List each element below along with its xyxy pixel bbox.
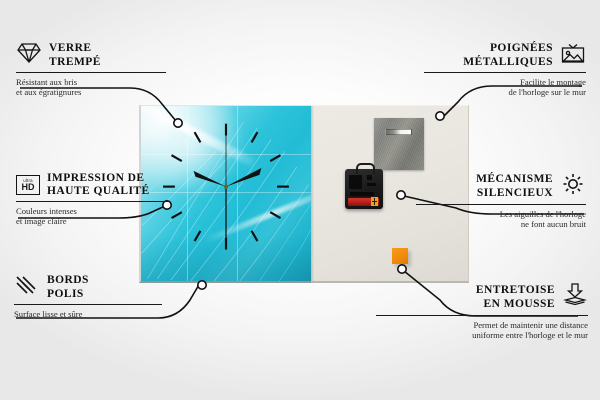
feature-bords-polis: BORDS POLIS Surface lisse et sûre: [14, 274, 162, 319]
feature-poignees-metalliques: POIGNÉES MÉTALLIQUES Facilite le montage…: [424, 42, 586, 97]
feature-title: BORDS POLIS: [47, 274, 89, 300]
ultra-hd-icon: ultra HD: [16, 175, 40, 195]
feature-verre-trempe: VERRE TREMPÉ Résistant aux bris et aux é…: [16, 42, 166, 97]
panel-fold-shadow: [311, 106, 314, 281]
battery-positive-terminal: [371, 197, 378, 206]
minute-hand: [226, 168, 261, 187]
feature-description: Facilite le montage de l'horloge sur le …: [424, 77, 586, 98]
divider: [376, 315, 588, 316]
hanger-slot: [385, 129, 412, 135]
feature-description: Permet de maintenir une distance uniform…: [376, 320, 588, 341]
feature-title: POIGNÉES MÉTALLIQUES: [463, 42, 553, 68]
mechanism-knob: [367, 175, 372, 180]
foam-spacer: [392, 248, 408, 264]
divider: [16, 72, 166, 73]
diamond-icon: [16, 42, 42, 69]
quartz-mechanism: [345, 169, 383, 209]
infographic-canvas: VERRE TREMPÉ Résistant aux bris et aux é…: [0, 0, 600, 400]
feature-entretoise-en-mousse: ENTRETOISE EN MOUSSE Permet de maintenir…: [376, 283, 588, 340]
divider: [16, 201, 168, 202]
foam-spacer-arrow-icon: [562, 283, 588, 312]
metal-grain-texture: [374, 118, 424, 170]
aa-battery: [348, 198, 379, 206]
divider: [14, 304, 162, 305]
mechanism-vent: [350, 192, 374, 196]
feature-mecanisme-silencieux: MÉCANISME SILENCIEUX Les aiguilles de l'…: [416, 172, 586, 229]
glass-reflection-line: [237, 106, 238, 283]
feature-title: VERRE TREMPÉ: [49, 42, 101, 68]
feature-impression-hd: ultra HD IMPRESSION DE HAUTE QUALITÉ Cou…: [16, 172, 168, 227]
divider: [424, 72, 586, 73]
feature-title: MÉCANISME SILENCIEUX: [476, 173, 553, 199]
feature-title: ENTRETOISE EN MOUSSE: [476, 284, 555, 310]
polished-edge-lines-icon: [14, 274, 40, 301]
divider: [416, 204, 586, 205]
glass-reflection-line: [187, 106, 188, 283]
feature-description: Couleurs intenses et image claire: [16, 206, 168, 227]
mechanism-hanger-loop: [356, 163, 375, 174]
feather-shadow-band: [141, 234, 311, 283]
mechanism-recess: [349, 175, 362, 189]
center-pin: [224, 184, 228, 188]
wall-frame-hanger-icon: [560, 42, 586, 69]
metal-hanger-plate: [374, 118, 424, 170]
glass-reflection-line: [141, 154, 311, 155]
mechanism-vent: [367, 183, 376, 186]
gear-icon: [560, 172, 586, 201]
feature-title: IMPRESSION DE HAUTE QUALITÉ: [47, 172, 150, 198]
feature-description: Surface lisse et sûre: [14, 309, 162, 319]
hour-hand: [194, 171, 226, 187]
feature-description: Les aiguilles de l'horloge ne font aucun…: [416, 209, 586, 230]
feature-description: Résistant aux bris et aux égratignures: [16, 77, 166, 98]
